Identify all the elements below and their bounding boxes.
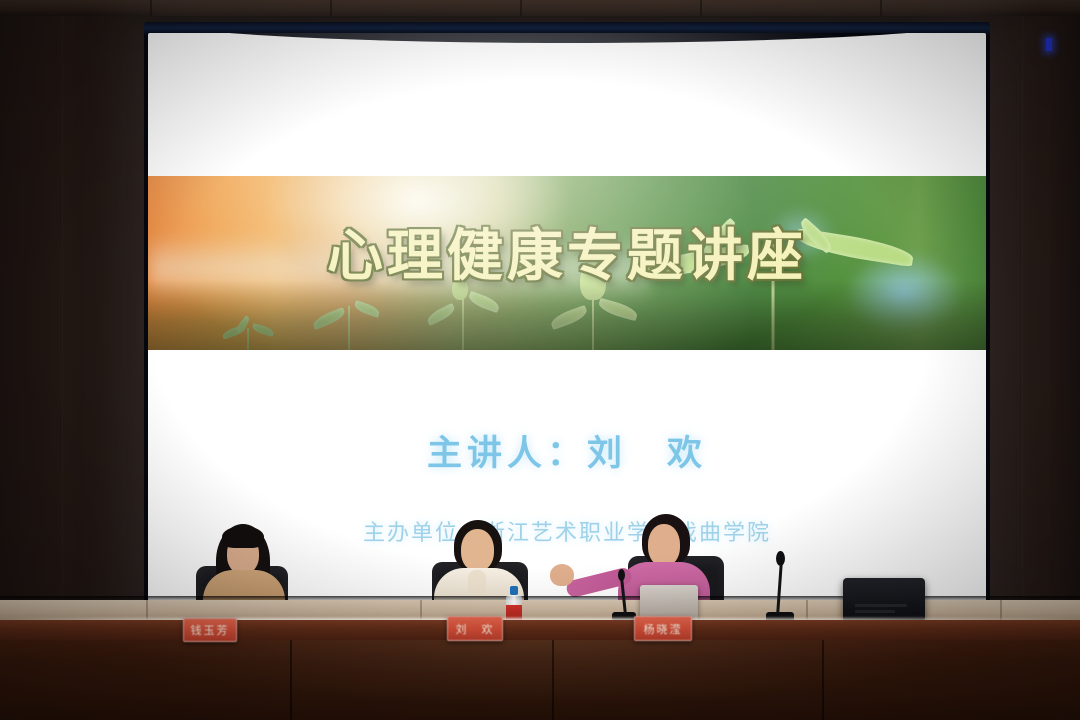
- blue-status-led: [1046, 38, 1052, 51]
- av-equipment-box: [843, 578, 925, 622]
- lecture-hall-photo: 心理健康专题讲座 主讲人：刘 欢 主办单位：浙江艺术职业学院戏曲学院: [0, 0, 1080, 720]
- screen-curve-top: [148, 33, 986, 43]
- name-placard: 钱玉芳: [183, 618, 237, 642]
- table-top: [0, 620, 1080, 642]
- hair-fringe: [222, 526, 264, 548]
- face: [461, 529, 494, 571]
- hand: [550, 564, 574, 586]
- slide-speaker-line: 主讲人：刘 欢: [148, 425, 986, 476]
- name-placard: 杨晓滢: [634, 616, 692, 641]
- face: [648, 524, 680, 566]
- ceiling-strip: [0, 0, 1080, 16]
- table-front-sheen: [0, 640, 1080, 720]
- slide-title: 心理健康专题讲座: [148, 211, 986, 292]
- name-placard: 刘 欢: [447, 616, 503, 641]
